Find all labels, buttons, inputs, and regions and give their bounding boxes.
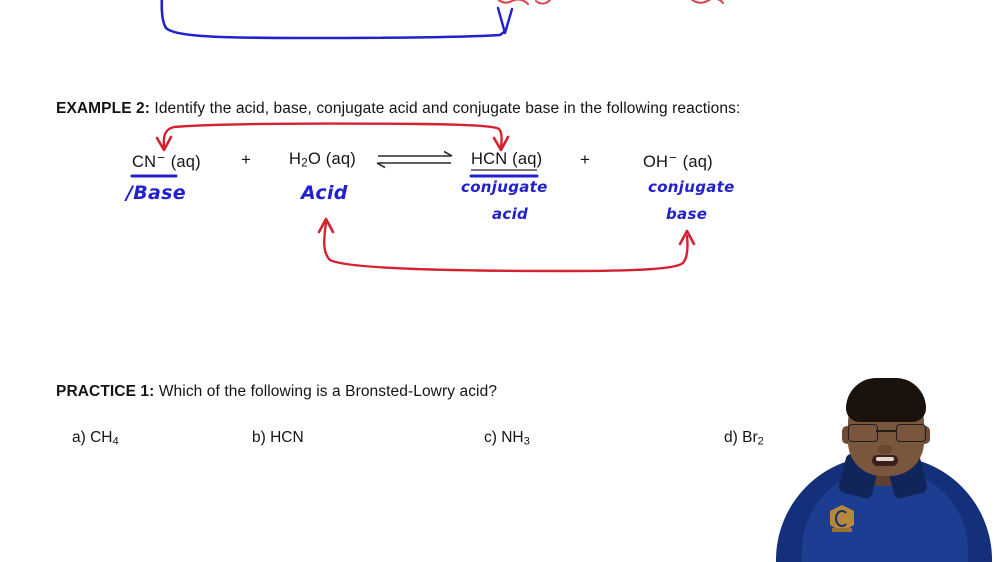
annotation-base-text: Base [133,182,186,204]
shirt-logo-bar-icon [832,528,852,532]
product-1-state: (aq) [512,150,542,168]
equation-reactant-1: CN− (aq) [132,150,201,172]
equilibrium-arrow-icon [377,152,452,168]
instructor-hair [846,378,926,422]
practice-choice-b[interactable]: b) HCN [252,429,304,447]
red-arrow-top [157,124,508,150]
instructor-nose [878,445,892,454]
annotation-acid: Acid [301,182,348,204]
reactant-2-subscript: 2 [301,156,308,170]
annotation-conjugate-acid-line2: acid [492,205,528,223]
annotation-conjugate-base-line1: conjugate [648,178,735,196]
choice-d-letter: d) [724,429,738,446]
practice-choice-a[interactable]: a) CH4 [72,429,119,447]
red-arrow-bottom [319,219,694,271]
reactant-1-charge: − [156,150,166,165]
choice-a-subscript: 4 [113,435,119,447]
practice-choice-c[interactable]: c) NH3 [484,429,530,447]
annotation-conjugate-acid-line1: conjugate [461,178,548,196]
product-2-state: (aq) [683,153,713,171]
equation-reactant-2: H2O (aq) [289,150,356,170]
reactant-2-formula-pre: H [289,150,301,168]
glasses-icon [846,424,926,440]
glasses-lens-left [848,424,878,442]
product-2-formula: OH [643,153,668,171]
choice-d-subscript: 2 [758,435,764,447]
practice-choice-d[interactable]: d) Br2 [724,429,764,447]
practice-prompt: PRACTICE 1: Which of the following is a … [56,383,497,401]
reactant-2-state: (aq) [326,150,356,168]
equation-product-1: HCN (aq) [471,150,542,169]
choice-c-letter: c) [484,429,497,446]
reactant-1-state: (aq) [171,153,201,171]
choice-b-letter: b) [252,429,266,446]
choice-c-subscript: 3 [524,435,530,447]
shirt-logo-inner-icon [835,510,849,527]
annotation-conjugate-base-line2: base [666,205,707,223]
equation-plus-1: + [241,150,251,170]
product-2-charge: − [668,150,678,165]
example-label: EXAMPLE 2: [56,100,150,117]
lecture-slide: EXAMPLE 2: Identify the acid, base, conj… [0,0,1000,562]
choice-c-formula-pre: NH [501,429,523,446]
choice-a-letter: a) [72,429,86,446]
instructor-video-overlay[interactable] [768,376,1000,562]
reactant-1-formula: CN [132,153,156,171]
reactant-2-formula-post: O [308,150,321,168]
equation-product-2: OH− (aq) [643,150,713,172]
choice-a-formula-pre: CH [90,429,112,446]
choice-d-formula-pre: Br [742,429,758,446]
glasses-lens-right [896,424,926,442]
practice-prompt-text: Which of the following is a Bronsted-Low… [154,383,497,400]
equation-plus-2: + [580,150,590,170]
glasses-bridge [876,430,896,432]
example-prompt: EXAMPLE 2: Identify the acid, base, conj… [56,100,740,118]
previous-slide-red-remnants [495,0,723,4]
product-1-formula: HCN [471,150,507,168]
choice-b-formula-pre: HCN [270,429,304,446]
practice-label: PRACTICE 1: [56,383,154,400]
annotation-base: /Base [126,182,186,204]
example-prompt-text: Identify the acid, base, conjugate acid … [150,100,740,117]
previous-slide-blue-arrow [162,0,512,38]
instructor-teeth [876,457,894,461]
